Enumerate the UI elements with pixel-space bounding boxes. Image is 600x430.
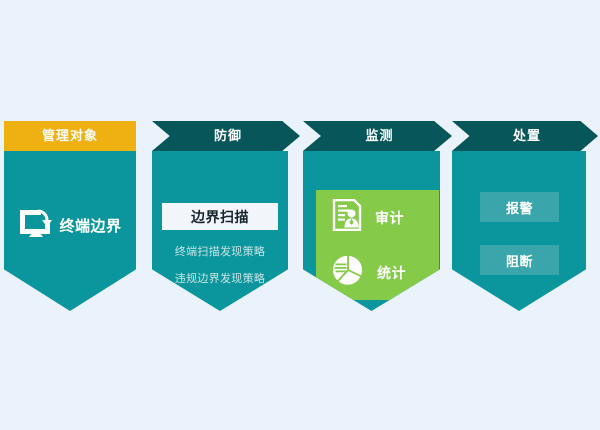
- monitoring-panel: 审计 统计: [316, 190, 439, 300]
- stage-header-management-object[interactable]: 管理对象: [4, 121, 136, 151]
- action-label-alarm: 报警: [506, 198, 533, 217]
- stage-body-monitoring: 审计 统计: [303, 151, 440, 311]
- stage-body-defense: 边界扫描 终端扫描发现策略 违规边界发现策略: [152, 151, 288, 311]
- audit-document-icon: [332, 199, 362, 236]
- stage-body-disposal: 报警 阻断: [452, 151, 586, 311]
- monitor-arrow-icon: [18, 207, 52, 244]
- policy-item-violation-boundary[interactable]: 违规边界发现策略: [152, 270, 288, 286]
- pie-chart-icon: [332, 254, 364, 291]
- boundary-scan-card[interactable]: 边界扫描: [162, 203, 278, 230]
- stage-header-monitoring[interactable]: 监测: [303, 121, 452, 151]
- stage-header-disposal[interactable]: 处置: [452, 121, 598, 151]
- terminal-boundary-label: 终端边界: [59, 215, 121, 236]
- boundary-scan-label: 边界扫描: [191, 207, 249, 227]
- process-flow-diagram: 管理对象 终端边界 防御 边界扫描 终端扫描发现策略: [0, 0, 600, 430]
- monitoring-item-statistics[interactable]: 统计: [316, 245, 439, 300]
- monitoring-label-statistics: 统计: [377, 263, 406, 283]
- monitoring-item-audit[interactable]: 审计: [316, 190, 439, 245]
- terminal-boundary-item[interactable]: 终端边界: [4, 207, 136, 244]
- action-label-block: 阻断: [506, 251, 533, 270]
- stage-header-defense[interactable]: 防御: [152, 121, 300, 151]
- policy-item-terminal-scan[interactable]: 终端扫描发现策略: [152, 243, 288, 259]
- stage-body-management-object: 终端边界: [4, 151, 136, 311]
- action-button-block[interactable]: 阻断: [480, 245, 559, 275]
- action-button-alarm[interactable]: 报警: [480, 192, 559, 222]
- monitoring-label-audit: 审计: [375, 208, 404, 228]
